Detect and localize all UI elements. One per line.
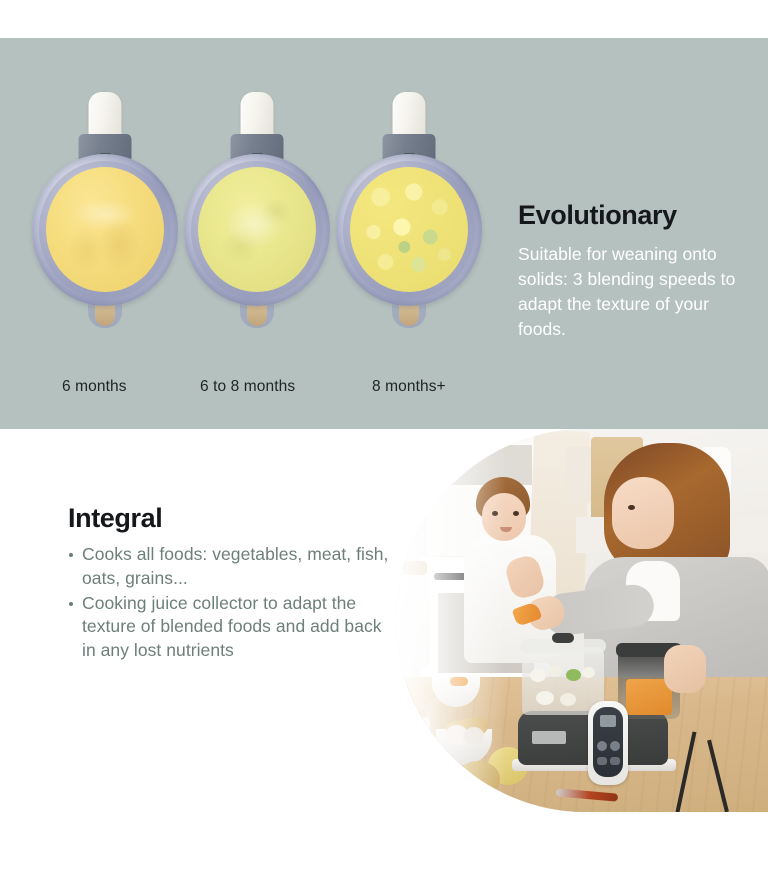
steamed-vegetable [530, 669, 546, 682]
mother-face [612, 477, 674, 549]
photo-left-fade [396, 429, 506, 812]
steamed-vegetable [536, 691, 554, 705]
jar-lid-cap-icon [393, 92, 426, 138]
steamed-pea [566, 669, 581, 681]
integral-feature-list: Cooks all foods: vegetables, meat, fish,… [68, 543, 398, 663]
lifestyle-photo [396, 429, 768, 812]
steamer-lid-knob [552, 633, 574, 643]
food-texture-mid [198, 167, 316, 292]
jar-bowl [336, 154, 482, 306]
stage-label-6-months: 6 months [62, 378, 127, 396]
list-item: Cooking juice collector to adapt the tex… [68, 592, 398, 663]
stage-label-8-months-plus: 8 months+ [372, 378, 446, 396]
mother-hand-right [664, 645, 706, 693]
control-panel-button [610, 741, 620, 751]
evolutionary-body: Suitable for weaning onto solids: 3 blen… [518, 242, 758, 343]
steamed-vegetable [548, 665, 562, 677]
blender-jar-6-to-8-months [182, 90, 332, 330]
product-feature-page: 6 months 6 to 8 months 8 months+ Evoluti… [0, 0, 768, 891]
evolutionary-text-block: Evolutionary Suitable for weaning onto s… [518, 201, 758, 342]
stage-label-6-to-8-months: 6 to 8 months [200, 378, 295, 396]
control-panel-button [610, 757, 620, 765]
integral-text-block: Integral Cooks all foods: vegetables, me… [68, 503, 398, 664]
control-panel-button [597, 757, 607, 765]
blender-jar-6-months [30, 90, 180, 330]
utensil-holder [566, 447, 592, 503]
appliance-brand-logo [532, 731, 566, 744]
steamed-vegetable [582, 667, 595, 678]
control-panel-button [597, 741, 607, 751]
toddler-eye-right [513, 511, 519, 516]
evolutionary-section: 6 months 6 to 8 months 8 months+ Evoluti… [0, 38, 768, 429]
food-texture-chunky [350, 167, 468, 292]
list-item: Cooks all foods: vegetables, meat, fish,… [68, 543, 398, 591]
jar-lid-cap-icon [241, 92, 274, 138]
control-panel-display-number [600, 715, 616, 727]
blending-stages-images [30, 90, 490, 330]
jar-bowl [184, 154, 330, 306]
jar-bowl [32, 154, 178, 306]
jar-lid-cap-icon [89, 92, 122, 138]
mother-eye [628, 505, 635, 510]
stage-labels: 6 months 6 to 8 months 8 months+ [30, 378, 500, 404]
food-texture-smooth [46, 167, 164, 292]
integral-title: Integral [68, 503, 398, 534]
steamed-vegetable [560, 693, 576, 706]
evolutionary-title: Evolutionary [518, 201, 758, 231]
blender-jar-8-months-plus [334, 90, 484, 330]
